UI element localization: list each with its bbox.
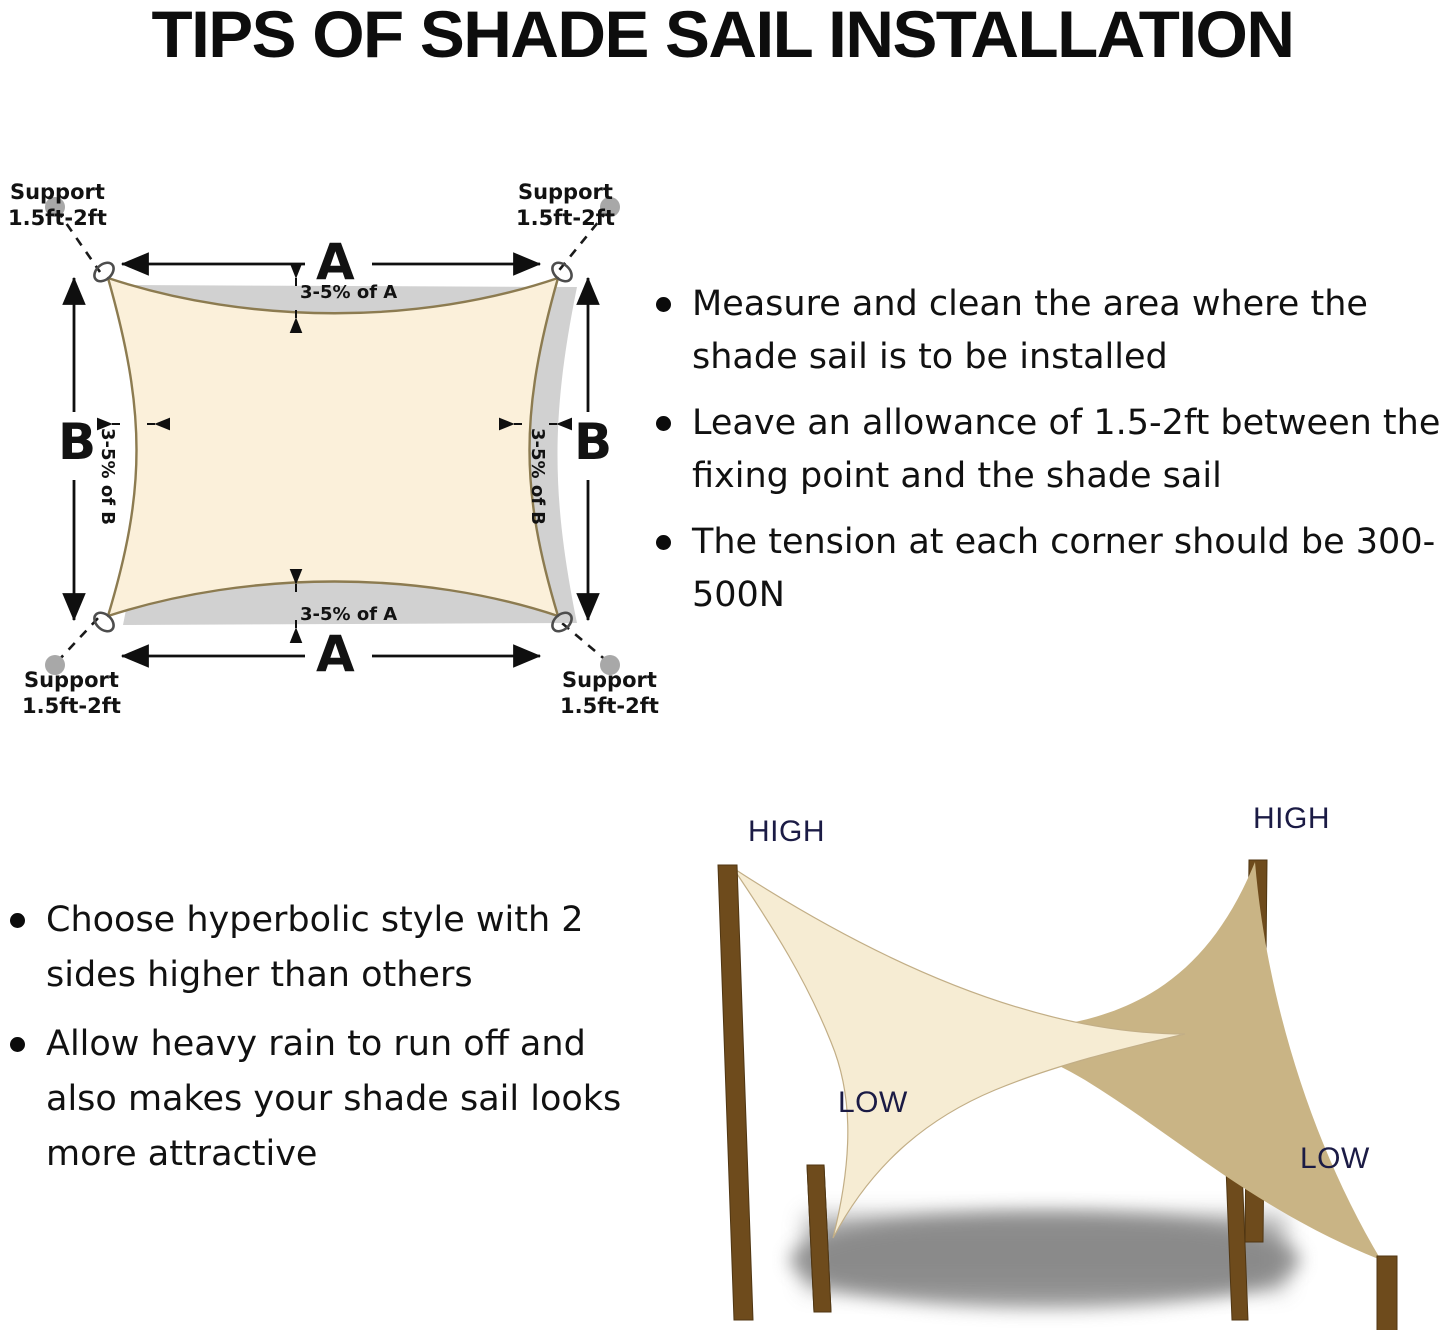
tip-item: Allow heavy rain to run off and also mak… (2, 1017, 632, 1182)
sail-body (108, 278, 558, 616)
label-high-left: HIGH (748, 815, 825, 849)
support-label-line2: 1.5ft-2ft (560, 694, 659, 720)
dimension-label-A-bottom: A (316, 624, 355, 685)
label-low-left: LOW (838, 1086, 908, 1120)
tip-item: Choose hyperbolic style with 2 sides hig… (2, 893, 632, 1003)
support-label-line1: Support (560, 668, 659, 694)
support-label-line2: 1.5ft-2ft (8, 206, 107, 232)
ground-shadow-block (805, 1215, 1285, 1290)
label-low-right: LOW (1300, 1142, 1370, 1176)
support-label-bottom-left: Support 1.5ft-2ft (22, 668, 121, 719)
sag-caption-left: 3-5% of B (96, 428, 118, 525)
hyperbolic-sail-diagram (655, 790, 1445, 1330)
tip-item: The tension at each corner should be 300… (648, 516, 1445, 622)
tips-list-bottom: Choose hyperbolic style with 2 sides hig… (2, 893, 632, 1196)
tip-item: Measure and clean the area where the sha… (648, 278, 1445, 384)
support-label-line2: 1.5ft-2ft (516, 206, 615, 232)
sag-caption-top: 3-5% of A (300, 282, 397, 304)
support-label-top-left: Support 1.5ft-2ft (8, 180, 107, 231)
support-label-line1: Support (516, 180, 615, 206)
support-label-line1: Support (8, 180, 107, 206)
sag-caption-right: 3-5% of B (526, 428, 548, 525)
support-label-line2: 1.5ft-2ft (22, 694, 121, 720)
tether-bottom-right (556, 618, 608, 662)
tether-bottom-left (57, 616, 100, 662)
tip-item: Leave an allowance of 1.5-2ft between th… (648, 397, 1445, 503)
page-title: TIPS OF SHADE SAIL INSTALLATION (0, 0, 1445, 72)
support-label-bottom-right: Support 1.5ft-2ft (560, 668, 659, 719)
dimension-label-B-right: B (574, 412, 612, 473)
support-label-line1: Support (22, 668, 121, 694)
post-high-left-front (718, 865, 753, 1320)
support-label-top-right: Support 1.5ft-2ft (516, 180, 615, 231)
dimension-label-B-left: B (58, 412, 96, 473)
sag-caption-bottom: 3-5% of A (300, 604, 397, 626)
tips-list-right: Measure and clean the area where the sha… (648, 278, 1445, 635)
label-high-right: HIGH (1253, 802, 1330, 836)
